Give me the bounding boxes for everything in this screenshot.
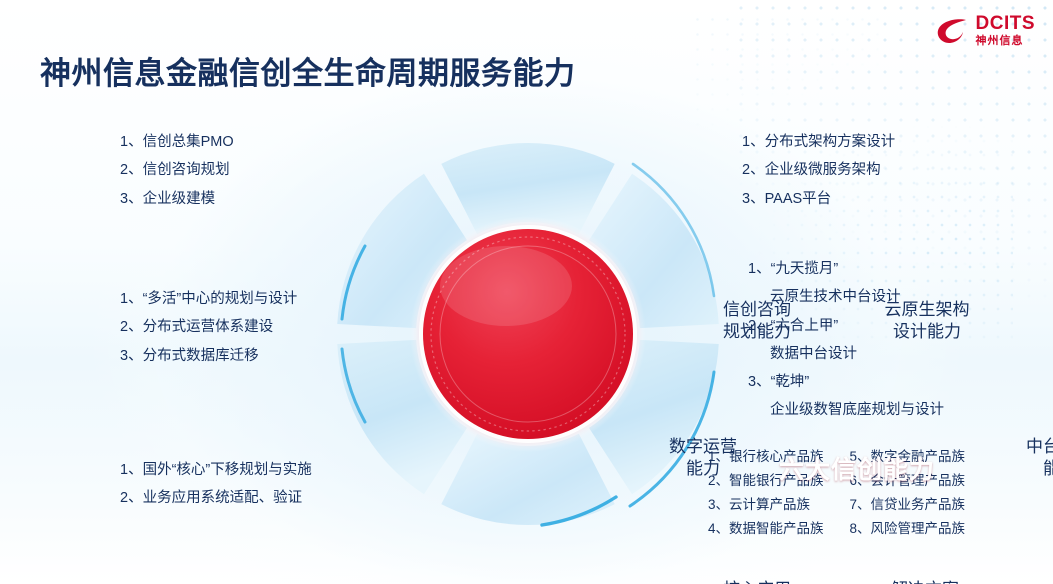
segment-label-line1: 云原生架构 — [862, 299, 992, 321]
segment-label-line1: 信创咨询 — [692, 299, 822, 321]
six-capability-donut-diagram: 信创咨询 规划能力 云原生架构 设计能力 中台建设 能力 解决方案 创新能力 核… — [330, 136, 726, 532]
list-item: 2、业务应用系统适配、验证 — [120, 484, 312, 512]
center-highlight — [440, 246, 572, 326]
list-item: 2、分布式运营体系建设 — [120, 313, 297, 341]
logo-text-en: DCITS — [976, 14, 1036, 33]
list-top-left: 1、信创总集PMO 2、信创咨询规划 3、企业级建模 — [120, 128, 234, 213]
list-item: 3、“乾坤” — [748, 368, 944, 396]
segment-label-core-app[interactable]: 核心应用 下移能力 — [692, 579, 822, 584]
segment-label-line1: 中台建设 — [1005, 436, 1053, 458]
brand-logo: DCITS 神州信息 — [936, 14, 1036, 47]
segment-label-line1: 解决方案 — [860, 579, 990, 584]
list-item: 1、分布式架构方案设计 — [742, 128, 895, 156]
segment-label-cloud-native[interactable]: 云原生架构 设计能力 — [862, 299, 992, 343]
segment-label-consulting[interactable]: 信创咨询 规划能力 — [692, 299, 822, 343]
list-item: 1、“九天揽月” — [748, 255, 944, 283]
segment-label-line2: 规划能力 — [692, 321, 822, 343]
center-label: 六大信创能力 — [737, 450, 977, 486]
list-item-sub: 数据中台设计 — [748, 340, 944, 368]
list-item: 1、“多活”中心的规划与设计 — [120, 285, 297, 313]
slide-canvas: DCITS 神州信息 神州信息金融信创全生命周期服务能力 1、信创总集PMO 2… — [0, 0, 1053, 584]
list-item: 3、PAAS平台 — [742, 185, 895, 213]
list-item: 1、信创总集PMO — [120, 128, 234, 156]
segment-label-line1: 核心应用 — [692, 579, 822, 584]
list-item: 7、信贷业务产品族 — [850, 493, 966, 517]
segment-label-midplatform[interactable]: 中台建设 能力 — [1005, 436, 1053, 480]
segment-label-solution[interactable]: 解决方案 创新能力 — [860, 579, 990, 584]
list-bottom-left: 1、国外“核心”下移规划与实施 2、业务应用系统适配、验证 — [120, 456, 312, 513]
list-top-right: 1、分布式架构方案设计 2、企业级微服务架构 3、PAAS平台 — [742, 128, 895, 213]
segment-label-line2: 能力 — [1005, 458, 1053, 480]
list-item: 2、信创咨询规划 — [120, 156, 234, 184]
page-title: 神州信息金融信创全生命周期服务能力 — [40, 48, 576, 93]
list-middle-left: 1、“多活”中心的规划与设计 2、分布式运营体系建设 3、分布式数据库迁移 — [120, 285, 297, 370]
dcits-swirl-icon — [936, 16, 970, 46]
logo-text-cn: 神州信息 — [976, 36, 1036, 47]
list-item: 8、风险管理产品族 — [850, 517, 966, 541]
list-item-sub: 企业级数智底座规划与设计 — [748, 396, 944, 424]
dot-pattern-decoration-tertiary — [690, 12, 890, 132]
segment-label-line2: 设计能力 — [862, 321, 992, 343]
logo-wordmark: DCITS 神州信息 — [976, 14, 1036, 47]
list-item: 3、分布式数据库迁移 — [120, 342, 297, 370]
list-item: 2、企业级微服务架构 — [742, 156, 895, 184]
list-item: 1、国外“核心”下移规划与实施 — [120, 456, 312, 484]
list-item: 3、企业级建模 — [120, 185, 234, 213]
